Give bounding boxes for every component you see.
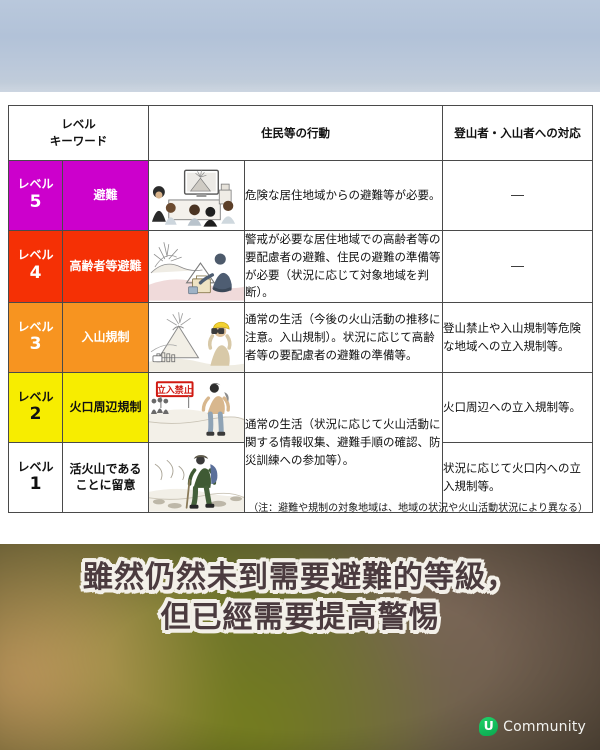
climbers-response-cell-4: ― xyxy=(443,231,593,303)
header-level-keyword: レベル キーワード xyxy=(9,106,149,161)
table-row-level-4: レベル 4 高齢者等避難 xyxy=(9,231,593,303)
watermark-logo: U Community xyxy=(479,717,586,736)
level-word-1: レベル xyxy=(9,461,62,475)
no-entry-sign-text: 立入禁止 xyxy=(157,384,193,396)
level-num-2: 2 xyxy=(9,405,62,425)
level-number-cell-2: レベル 2 xyxy=(9,373,63,443)
level-keyword-cell-2: 火口周辺規制 xyxy=(63,373,149,443)
level-word-4: レベル xyxy=(9,249,62,263)
caption-overlay: 雖然仍然未到需要避難的等級， 但已經需要提高警惕 xyxy=(0,558,600,638)
level-word-3: レベル xyxy=(9,321,62,335)
table-header-row: レベル キーワード 住民等の行動 登山者・入山者への対応 xyxy=(9,106,593,161)
caption-line-2: 但已經需要提高警惕 xyxy=(0,598,600,638)
level-num-3: 3 xyxy=(9,335,62,355)
watermark-label: Community xyxy=(503,719,586,735)
climbers-response-cell-3: 登山禁止や入山規制等危険な地域への立入規制等。 xyxy=(443,303,593,373)
level-number-cell-5: レベル 5 xyxy=(9,161,63,231)
table-row-level-2: レベル 2 火口周辺規制 立入禁止 xyxy=(9,373,593,443)
document-area: レベル キーワード 住民等の行動 登山者・入山者への対応 レベル 5 避難 xyxy=(0,92,600,544)
illustration-cell-4 xyxy=(149,231,245,303)
header-level-line1: レベル xyxy=(9,116,148,133)
table-footnote: （注：避難や規制の対象地域は、地域の状況や火山活動状況により異なる） xyxy=(8,499,592,514)
table-row-level-3: レベル 3 入山規制 xyxy=(9,303,593,373)
climbers-response-cell-2: 火口周辺への立入規制等。 xyxy=(443,373,593,443)
level-number-cell-4: レベル 4 xyxy=(9,231,63,303)
header-level-line2: キーワード xyxy=(9,133,148,150)
level-num-4: 4 xyxy=(9,264,62,284)
photo-background-area: 雖然仍然未到需要避難的等級， 但已經需要提高警惕 U Community xyxy=(0,544,600,750)
u-badge-icon: U xyxy=(479,717,498,736)
level-keyword-line1: 活火山である xyxy=(63,462,148,478)
illustration-cell-3 xyxy=(149,303,245,373)
sky-background-band xyxy=(0,0,600,92)
climbers-response-cell-5: ― xyxy=(443,161,593,231)
illustration-cell-2: 立入禁止 xyxy=(149,373,245,443)
table-row-level-5: レベル 5 避難 xyxy=(9,161,593,231)
level-num-5: 5 xyxy=(9,193,62,213)
person-packing-evacuation-bag-icon xyxy=(149,233,244,301)
level-keyword-cell-5: 避難 xyxy=(63,161,149,231)
level-keyword-cell-3: 入山規制 xyxy=(63,303,149,373)
infographic-page: レベル キーワード 住民等の行動 登山者・入山者への対応 レベル 5 避難 xyxy=(0,0,600,750)
illustration-cell-5 xyxy=(149,161,245,231)
residents-action-cell-4: 警戒が必要な居住地域での高齢者等の要配慮者の避難、住民の避難の準備等が必要（状況… xyxy=(245,231,443,303)
residents-action-cell-2-1-merged: 通常の生活（状況に応じて火山活動に関する情報収集、避難手順の確認、防災訓練への参… xyxy=(245,373,443,513)
no-entry-sign-hiker-icon: 立入禁止 xyxy=(149,374,244,442)
level-keyword-line2: ことに留意 xyxy=(63,478,148,494)
caption-line-1: 雖然仍然未到需要避難的等級， xyxy=(0,558,600,598)
residents-action-cell-5: 危険な居住地域からの避難等が必要。 xyxy=(245,161,443,231)
header-residents-action: 住民等の行動 xyxy=(149,106,443,161)
level-keyword-cell-4: 高齢者等避難 xyxy=(63,231,149,303)
level-number-cell-3: レベル 3 xyxy=(9,303,63,373)
level-word-5: レベル xyxy=(9,178,62,192)
level-num-1: 1 xyxy=(9,475,62,495)
family-watching-tv-eruption-news-icon xyxy=(149,162,244,230)
level-word-2: レベル xyxy=(9,391,62,405)
header-climbers-response: 登山者・入山者への対応 xyxy=(443,106,593,161)
volcanic-alert-level-table: レベル キーワード 住民等の行動 登山者・入山者への対応 レベル 5 避難 xyxy=(8,105,593,513)
observer-with-binoculars-volcano-icon xyxy=(149,304,244,372)
residents-action-cell-3: 通常の生活（今後の火山活動の推移に注意。入山規制）。状況に応じて高齢者等の要配慮… xyxy=(245,303,443,373)
